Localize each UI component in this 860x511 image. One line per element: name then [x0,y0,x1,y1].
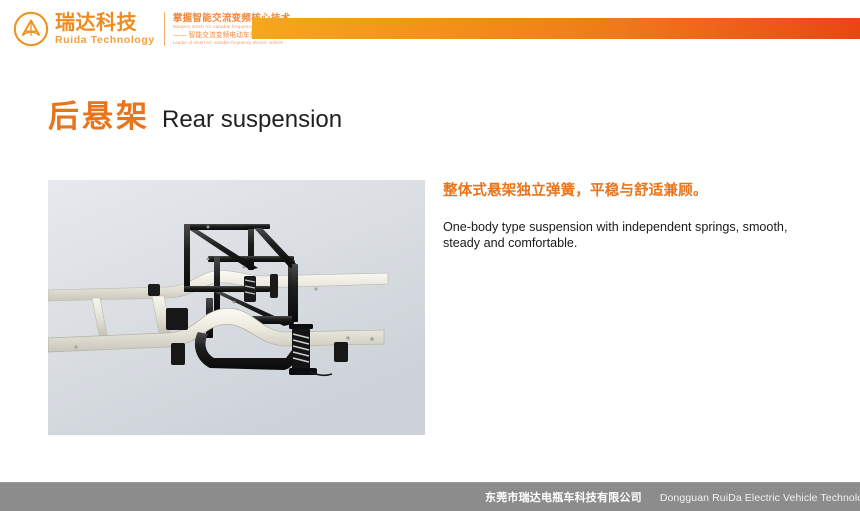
page-header: 瑞达科技 Ruida Technology 掌握智能交流变频核心技术 Maste… [0,0,860,58]
product-photo [48,180,425,435]
ruida-circle-a-logo-icon [12,10,50,48]
page-footer: 东莞市瑞达电瓶车科技有限公司 Dongguan RuiDa Electric V… [0,482,860,511]
description-body-en: One-body type suspension with independen… [443,220,793,251]
chassis-illustration [48,180,425,435]
footer-company-en: Dongguan RuiDa Electric Vehicle Technolo… [660,492,860,504]
brand-lockup: 瑞达科技 Ruida Technology 掌握智能交流变频核心技术 Maste… [12,8,290,50]
page-title: 后悬架 Rear suspension [48,98,342,139]
slogan-en-secondary: Leader of smart AC variable frequency el… [173,40,291,46]
brand-name-en: Ruida Technology [55,34,155,47]
page-title-en: Rear suspension [162,101,342,139]
footer-company-cn: 东莞市瑞达电瓶车科技有限公司 [485,489,642,505]
brand-divider [164,12,165,46]
description-block: 整体式悬架独立弹簧，平稳与舒适兼顾。 One-body type suspens… [443,180,843,251]
header-gradient-bar [252,18,860,39]
brand-text: 瑞达科技 Ruida Technology [55,11,155,47]
brand-name-cn: 瑞达科技 [55,11,155,33]
page-title-cn: 后悬架 [48,98,150,136]
footer-company: 东莞市瑞达电瓶车科技有限公司 Dongguan RuiDa Electric V… [485,489,860,505]
description-headline-cn: 整体式悬架独立弹簧，平稳与舒适兼顾。 [443,180,843,202]
